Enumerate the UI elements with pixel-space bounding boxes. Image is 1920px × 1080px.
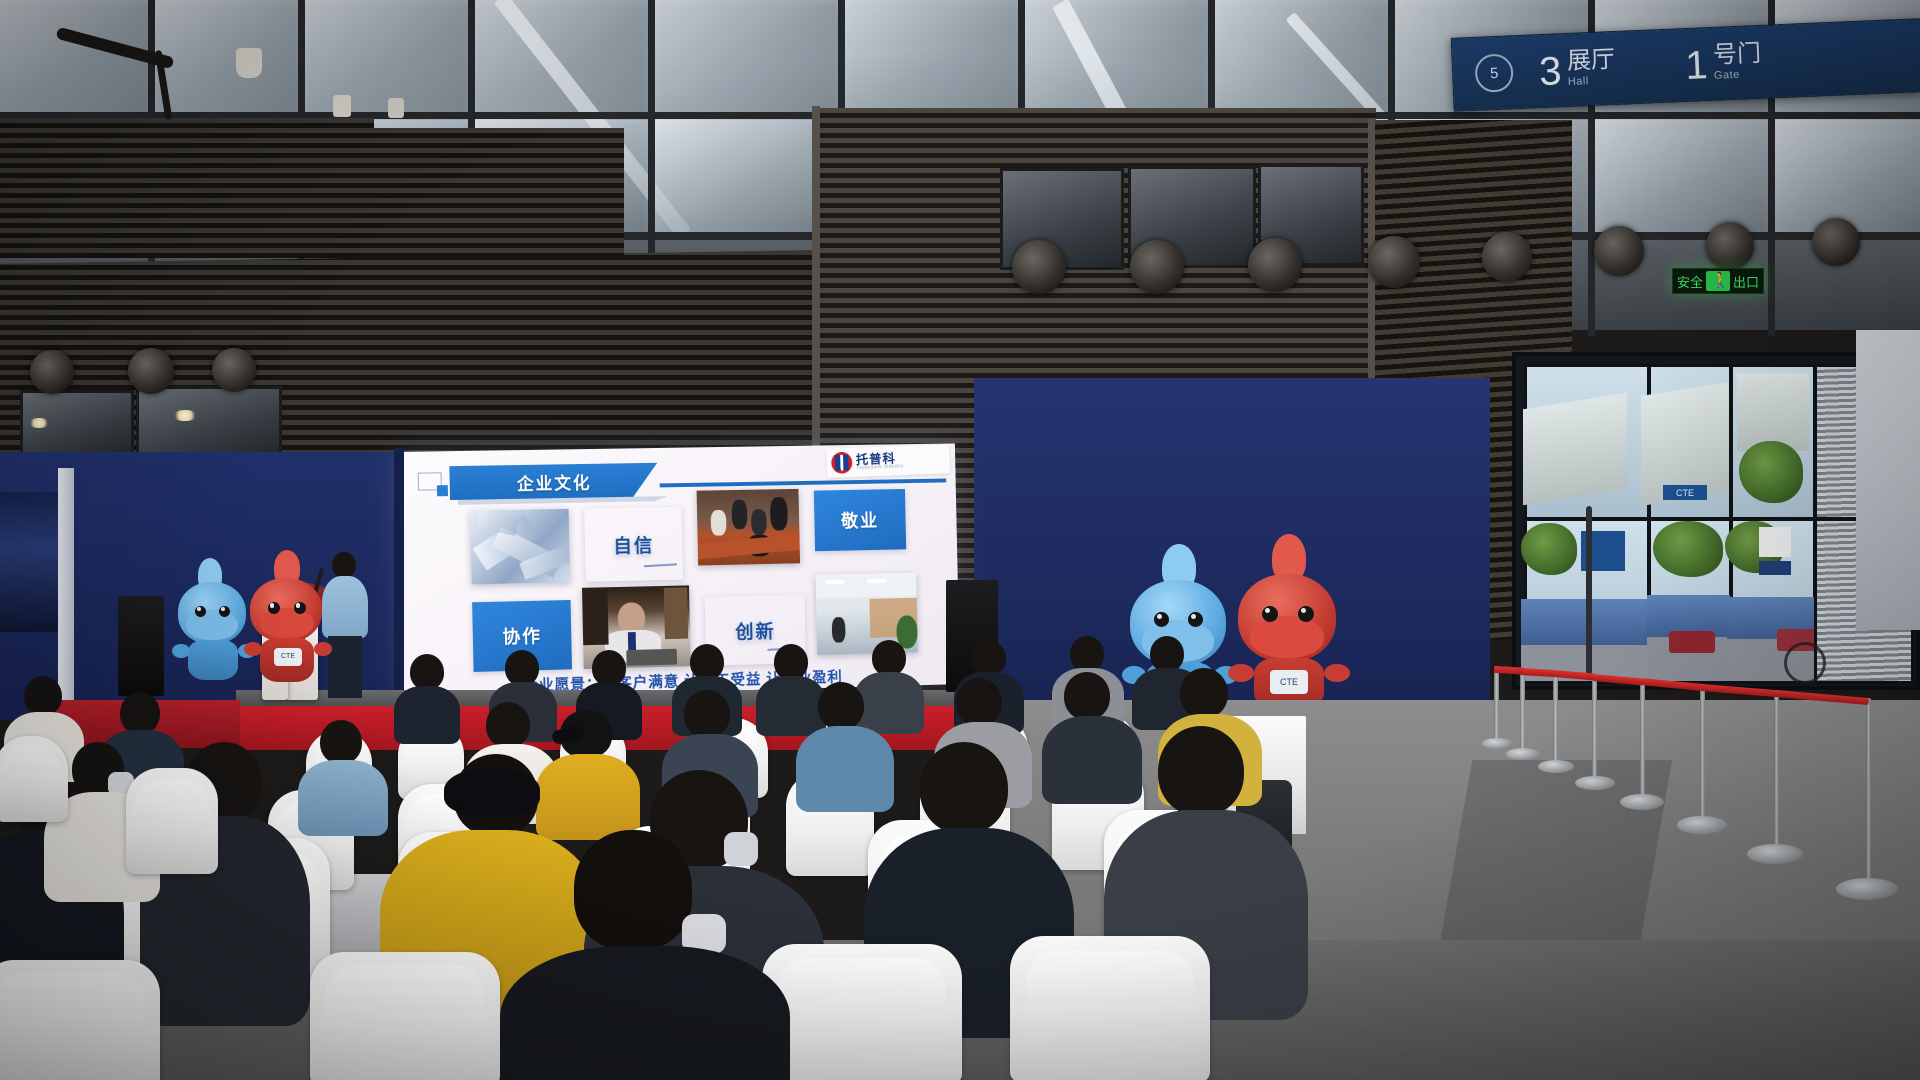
air-duct-3 bbox=[1248, 238, 1302, 292]
chair-r4-2 bbox=[310, 952, 500, 1080]
company-logo-mark-icon bbox=[831, 452, 853, 474]
exit-label-left: 安全 bbox=[1677, 272, 1703, 291]
stanchion-base-4 bbox=[1620, 794, 1664, 810]
stanchion-base-3 bbox=[1575, 776, 1615, 790]
slide-title: 企业文化 bbox=[517, 468, 592, 494]
mascot-bib-text-right: CTE bbox=[1270, 670, 1308, 694]
stanchion-post-0 bbox=[1494, 666, 1499, 744]
stanchion-post-1 bbox=[1520, 668, 1525, 754]
stanchion-base-2 bbox=[1538, 760, 1574, 773]
exit-label-right: 出口 bbox=[1733, 272, 1759, 291]
zone-badge: 5 bbox=[1474, 53, 1514, 93]
mascot-red-right: CTE bbox=[1234, 540, 1346, 710]
ceiling-speaker-2 bbox=[333, 95, 351, 117]
air-duct-11 bbox=[30, 350, 74, 394]
bicycle-silhouette bbox=[1784, 642, 1826, 684]
hall-label-cn: 展厅 bbox=[1566, 48, 1615, 74]
face-mask-icon bbox=[724, 832, 758, 866]
company-logo-latin: Topscomm Industry bbox=[856, 464, 904, 471]
slide-decor-square bbox=[418, 472, 442, 490]
mascot-bib-left: CTE bbox=[274, 648, 302, 666]
exhibition-hall-scene: 5 3 展厅 Hall 1 号门 Gate 安全 🚶 出口 bbox=[0, 0, 1920, 1080]
mascot-blue-left bbox=[176, 560, 256, 680]
slide-cell-confidence: 自信 bbox=[584, 507, 683, 582]
right-wall-panel bbox=[1856, 330, 1920, 630]
hall-label-en: Hall bbox=[1568, 74, 1616, 87]
chair-left-2 bbox=[126, 768, 218, 874]
louvered-facade-upper-mid bbox=[374, 128, 624, 258]
louvered-facade-upper-left bbox=[0, 118, 374, 258]
running-man-icon: 🚶 bbox=[1706, 271, 1730, 291]
slide-cell-innovation-label: 创新 bbox=[735, 616, 776, 644]
backdrop-left-poster bbox=[0, 492, 58, 632]
door-push-bar[interactable] bbox=[1586, 506, 1592, 676]
air-duct-4 bbox=[1368, 236, 1420, 288]
mascot-bib-right: CTE bbox=[1270, 670, 1308, 694]
gate-label-cn: 号门 bbox=[1713, 41, 1762, 67]
stanchion-base-7 bbox=[1836, 878, 1898, 900]
floor-speaker-left bbox=[118, 596, 164, 696]
hall-number: 3 bbox=[1538, 51, 1562, 92]
stanchion-base-5 bbox=[1677, 816, 1727, 834]
stanchion-post-2 bbox=[1553, 670, 1558, 766]
emergency-exit-sign: 安全 🚶 出口 bbox=[1672, 268, 1764, 294]
company-logo: 托普科 Topscomm Industry bbox=[826, 444, 950, 478]
mascot-red-left: CTE bbox=[248, 554, 332, 682]
led-screen-bezel bbox=[394, 448, 404, 704]
presenter-head bbox=[332, 552, 356, 578]
door-pane-1 bbox=[1524, 364, 1650, 520]
door-pane-3 bbox=[1730, 364, 1816, 520]
stanchion-post-3 bbox=[1592, 674, 1597, 782]
cap-icon-front bbox=[444, 768, 540, 816]
air-duct-1 bbox=[1012, 240, 1066, 294]
slide-photo-meeting bbox=[697, 489, 800, 566]
backdrop-left-edge bbox=[58, 468, 74, 704]
stanchion-base-1 bbox=[1506, 748, 1540, 760]
stanchion-post-4 bbox=[1640, 678, 1645, 800]
chair-left-1 bbox=[0, 736, 68, 822]
gate-label-en: Gate bbox=[1714, 68, 1762, 81]
slide-title-rule bbox=[660, 479, 947, 488]
exterior-banner: CTE bbox=[1663, 485, 1707, 500]
ceiling-speaker-3 bbox=[388, 98, 404, 118]
stanchion-post-7 bbox=[1866, 698, 1871, 890]
ceiling-lamp-a bbox=[28, 418, 50, 428]
chair-r4-4 bbox=[1010, 936, 1210, 1080]
chair-r4-1 bbox=[0, 960, 160, 1080]
ceiling-speaker bbox=[236, 48, 262, 78]
chair-r4-3 bbox=[762, 944, 962, 1080]
air-duct-8 bbox=[1812, 218, 1860, 266]
slide-cell-dedication: 敬业 bbox=[814, 489, 906, 551]
queue-belt-0 bbox=[1494, 666, 1524, 675]
stanchion-post-6 bbox=[1774, 690, 1779, 854]
air-duct-6 bbox=[1594, 226, 1644, 276]
interior-window-mid bbox=[136, 386, 282, 456]
slide-cell-dedication-label: 敬业 bbox=[841, 507, 880, 533]
air-duct-2 bbox=[1130, 240, 1184, 294]
zone-badge-number: 5 bbox=[1490, 64, 1499, 81]
air-duct-5 bbox=[1482, 232, 1532, 282]
mascot-bib-text-left: CTE bbox=[274, 648, 302, 666]
door-pane-2: CTE bbox=[1648, 364, 1732, 520]
door-pane-5 bbox=[1648, 518, 1732, 684]
slide-cell-cooperation-label: 协作 bbox=[502, 622, 542, 649]
stanchion-base-0 bbox=[1482, 738, 1512, 749]
exterior-banner-text: CTE bbox=[1676, 488, 1694, 498]
stanchion-post-5 bbox=[1700, 684, 1705, 824]
slide-photo-buildings bbox=[470, 509, 570, 585]
gate-number: 1 bbox=[1684, 45, 1708, 86]
air-duct-9 bbox=[128, 348, 174, 394]
ceiling-lamp-b bbox=[172, 410, 198, 421]
slide-title-ribbon: 企业文化 bbox=[449, 463, 658, 500]
slide-cell-confidence-label: 自信 bbox=[613, 530, 654, 557]
air-duct-10 bbox=[212, 348, 256, 392]
presenter-legs bbox=[328, 636, 362, 698]
air-duct-7 bbox=[1706, 222, 1754, 270]
stanchion-base-6 bbox=[1747, 844, 1803, 864]
slide-photo-corridor bbox=[816, 572, 918, 654]
